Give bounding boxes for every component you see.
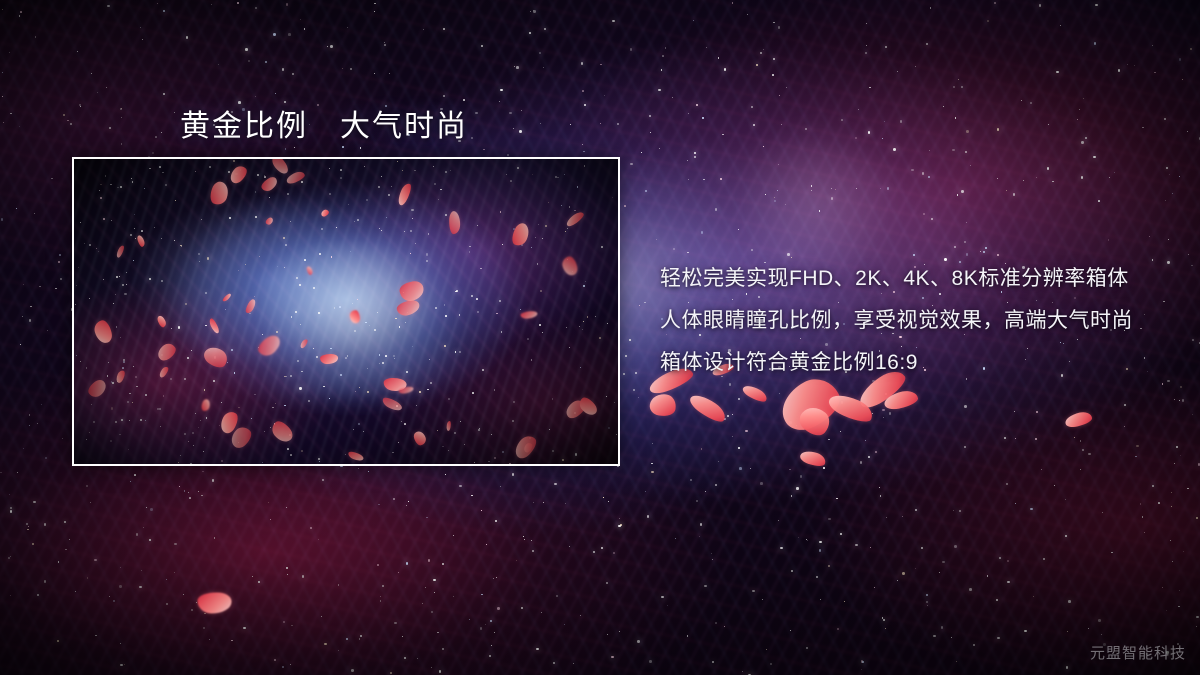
display-panel-frame bbox=[72, 157, 620, 466]
body-text-block: 轻松完美实现FHD、2K、4K、8K标准分辨率箱体 人体眼睛瞳孔比例，享受视觉效… bbox=[660, 258, 1160, 384]
body-line-1: 轻松完美实现FHD、2K、4K、8K标准分辨率箱体 bbox=[660, 258, 1160, 300]
slide-root: 黄金比例 大气时尚 轻松完美实现FHD、2K、4K、8K标准分辨率箱体 人体眼睛… bbox=[0, 0, 1200, 675]
body-line-2: 人体眼睛瞳孔比例，享受视觉效果，高端大气时尚 bbox=[660, 300, 1160, 342]
panel-vignette bbox=[74, 159, 618, 464]
body-line-3: 箱体设计符合黄金比例16:9 bbox=[660, 342, 1160, 384]
watermark: 元盟智能科技 bbox=[1090, 642, 1186, 663]
page-title: 黄金比例 大气时尚 bbox=[180, 101, 468, 145]
